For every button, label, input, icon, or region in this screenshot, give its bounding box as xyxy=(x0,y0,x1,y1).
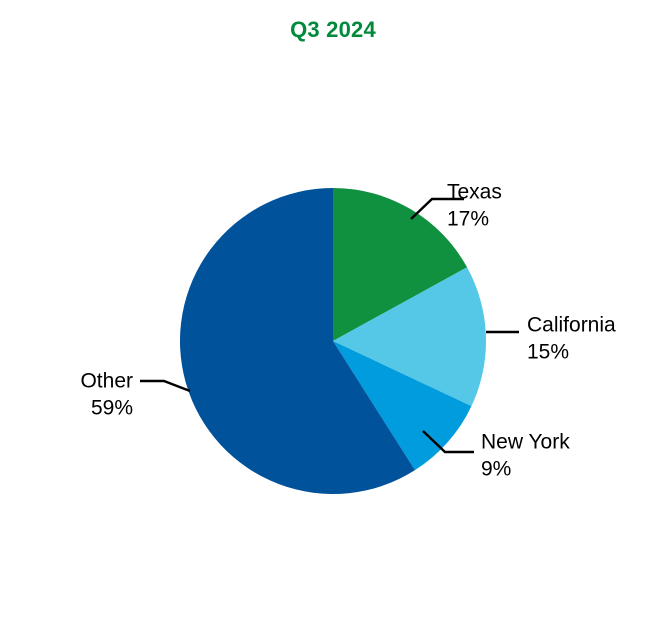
label-texas-value: 17% xyxy=(447,208,489,231)
label-new-york-value: 9% xyxy=(481,458,511,481)
label-other-value: 59% xyxy=(91,397,133,420)
pie-chart-figure: Q3 2024 Texas 17% California 15% New Yor… xyxy=(0,0,666,618)
label-california-value: 15% xyxy=(527,341,569,364)
label-new-york-name: New York xyxy=(481,431,570,454)
label-other-name: Other xyxy=(80,370,133,393)
label-california-name: California xyxy=(527,314,616,337)
leader-line-other xyxy=(140,381,190,391)
label-texas-name: Texas xyxy=(447,181,502,204)
pie-chart-canvas: Texas 17% California 15% New York 9% Oth… xyxy=(0,0,666,618)
